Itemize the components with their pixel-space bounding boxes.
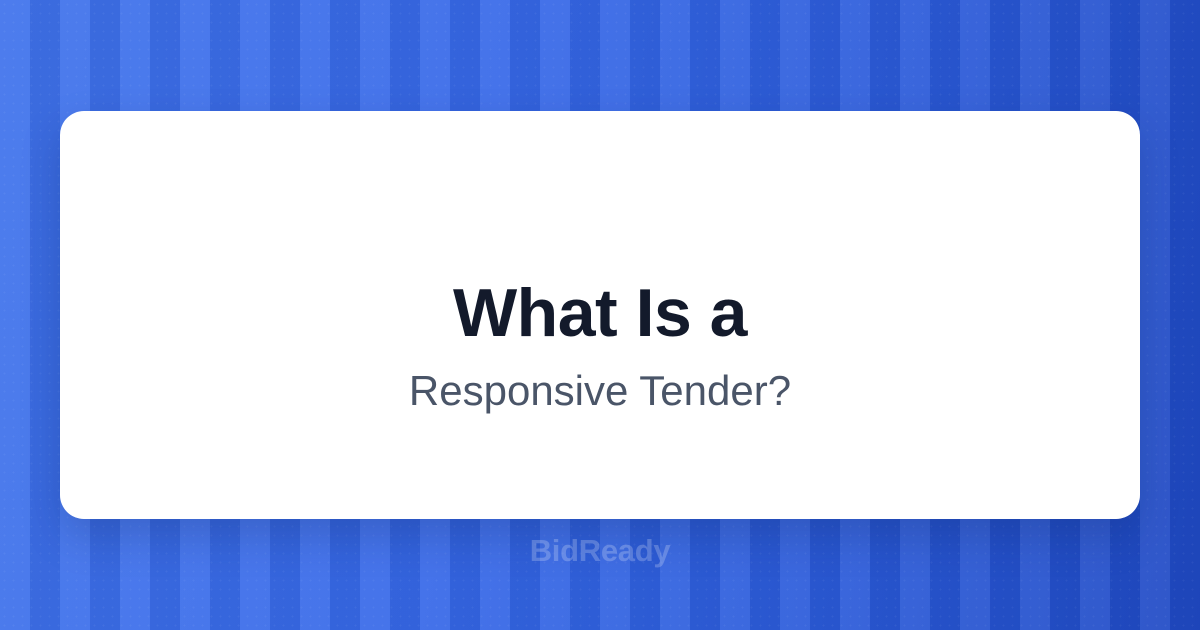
subheadline-text: Responsive Tender? <box>409 365 791 418</box>
social-share-card: What Is a Responsive Tender? BidReady <box>0 0 1200 630</box>
card-content-stack: What Is a Responsive Tender? BidReady <box>0 0 1200 630</box>
headline-text: What Is a <box>453 275 747 351</box>
white-content-panel: What Is a Responsive Tender? <box>60 111 1140 519</box>
title-block: What Is a Responsive Tender? <box>409 275 791 418</box>
brand-wordmark: BidReady <box>0 533 1200 569</box>
